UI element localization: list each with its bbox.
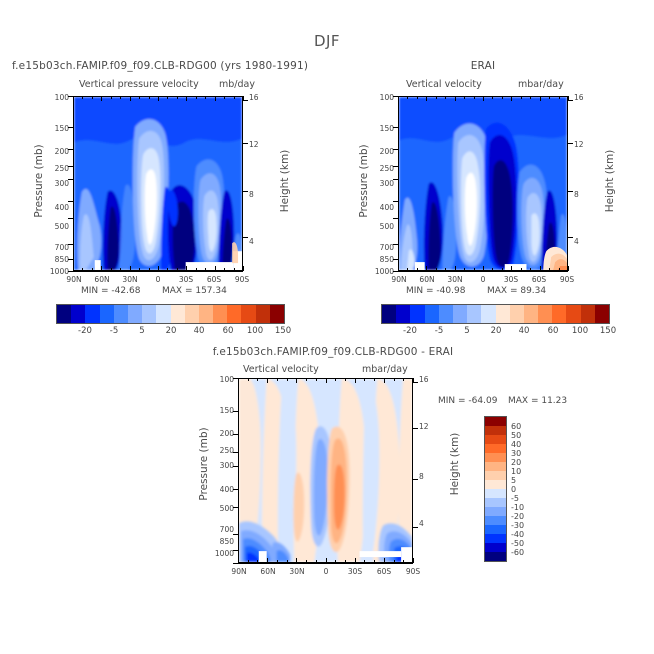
xtick-mark-top [158,96,159,101]
xtick-mark-top [248,378,249,381]
panel-obs-subtitle-right: mbar/day [518,79,564,90]
colorbar-swatch [485,507,506,516]
ytick-label: 100 [47,93,69,102]
colorbar-swatch [485,444,506,453]
xtick-mark-top [92,96,93,99]
colorbar-swatch [171,305,185,323]
y2tick-label: 12 [574,140,584,149]
panel-difference-min: MIN = -64.09 [438,396,497,406]
panel-difference-max: MAX = 11.23 [508,396,567,406]
colorbar-swatch [485,435,506,444]
colorbar-swatch [485,498,506,507]
colorbar-tick-label: -20 [71,326,99,336]
xtick-mark-top [205,96,206,99]
xtick-mark-top [73,96,74,101]
colorbar-swatch [485,462,506,471]
colorbar-swatch [270,305,284,323]
xtick-mark-top [474,96,475,99]
colorbar-tick-label: -10 [511,504,524,512]
xtick-mark-top [257,378,258,381]
ytick-mark [233,507,238,508]
colorbar-tick-label: -50 [511,540,524,548]
colorbar-swatch [100,305,114,323]
colorbar-tick-label: -20 [396,326,424,336]
xtick-label: 60S [374,567,394,576]
xtick-label: 0 [316,567,336,576]
ytick-label: 850 [47,255,69,264]
ytick-label: 400 [212,485,234,494]
y2tick-mark [243,237,248,238]
ytick-mark [233,550,238,551]
ytick-label: 200 [212,429,234,438]
colorbar-tick-label: 0 [511,486,516,494]
colorbar-swatch [485,471,506,480]
xtick-mark-top [167,96,168,99]
ytick-mark [233,489,238,490]
xtick-label: 30N [120,275,140,284]
colorbar-swatch [485,489,506,498]
colorbar-swatch [396,305,410,323]
colorbar-swatch [595,305,609,323]
ytick-label: 850 [372,255,394,264]
colorbar-tick-label: 100 [240,326,270,336]
ytick-mark [68,259,73,260]
ytick-mark [393,201,398,202]
xtick-label: 30S [345,567,365,576]
colorbar-swatch [71,305,85,323]
colorbar-tick-label: 20 [482,326,510,336]
ytick-label: 300 [47,179,69,188]
ytick-mark [393,149,398,150]
xtick-mark-top [82,96,83,99]
colorbar-swatch [481,305,495,323]
panel-obs-ylabel: Pressure (mb) [358,136,370,226]
ytick-label: 150 [47,124,69,133]
xtick-label: 30S [176,275,196,284]
ytick-mark [68,244,73,245]
colorbar-tick-label: -40 [511,531,524,539]
xtick-mark-top [502,96,503,99]
colorbar-swatch [485,516,506,525]
ytick-label: 100 [212,375,234,384]
ytick-label: 250 [372,164,394,173]
xtick-mark-top [436,96,437,99]
ytick-mark [393,259,398,260]
colorbar-tick-label: 30 [511,450,521,458]
panel-difference-colorbar[interactable] [484,416,507,562]
xtick-mark-top [296,378,297,383]
ytick-mark [233,466,238,467]
ytick-label: 500 [372,222,394,231]
colorbar-tick-label: 40 [185,326,213,336]
ytick-label: 200 [372,147,394,156]
xtick-label: 60N [92,275,112,284]
ytick-mark [393,218,398,219]
ytick-mark [68,166,73,167]
colorbar-swatch [85,305,99,323]
colorbar-swatch [199,305,213,323]
panel-model-min: MIN = -42.68 [81,286,140,296]
xtick-mark-top [464,96,465,99]
colorbar-swatch [485,480,506,489]
xtick-mark-top [374,378,375,381]
panel-obs-plot[interactable] [398,96,568,271]
panel-obs-max: MAX = 89.34 [487,286,546,296]
xtick-mark-top [130,96,131,101]
xtick-mark-bottom [568,266,569,271]
colorbar-swatch [453,305,467,323]
colorbar-swatch [142,305,156,323]
xtick-mark-top [215,96,216,101]
panel-model-colorbar[interactable] [56,304,285,324]
panel-model-max: MAX = 157.34 [162,286,227,296]
y2tick-mark [568,143,573,144]
colorbar-swatch [485,525,506,534]
xtick-mark-top [417,96,418,99]
xtick-label: 0 [473,275,493,284]
colorbar-tick-label: 10 [511,468,521,476]
ytick-label: 1000 [208,549,234,558]
figure-title: DJF [0,32,654,50]
colorbar-tick-label: 50 [511,432,521,440]
colorbar-swatch [425,305,439,323]
colorbar-swatch [496,305,510,323]
xtick-label: 60N [258,567,278,576]
panel-difference-subtitle-left: Vertical velocity [243,364,319,375]
ytick-label: 200 [47,147,69,156]
colorbar-swatch [185,305,199,323]
colorbar-tick-label: -5 [100,326,128,336]
xtick-label: 90S [557,275,577,284]
y2tick-label: 4 [574,237,579,246]
ytick-mark [68,127,73,128]
xtick-mark-top [521,96,522,99]
xtick-mark-top [287,378,288,381]
ytick-label: 500 [47,222,69,231]
xtick-label: 30N [445,275,465,284]
xtick-mark-top [403,378,404,381]
colorbar-tick-label: -30 [511,522,524,530]
xtick-mark-top [355,378,356,383]
ytick-mark [233,411,238,412]
xtick-mark-top [326,378,327,383]
ytick-label: 250 [47,164,69,173]
ytick-mark [68,218,73,219]
ytick-label: 300 [372,179,394,188]
colorbar-tick-label: 40 [511,441,521,449]
xtick-mark-top [426,96,427,101]
colorbar-tick-label: 40 [510,326,538,336]
panel-obs-y2label: Height (km) [604,136,616,226]
xtick-label: 90N [64,275,84,284]
colorbar-tick-label: -5 [511,495,519,503]
xtick-label: 60N [417,275,437,284]
y2tick-mark [413,527,418,528]
xtick-mark-top [149,96,150,99]
ytick-mark [233,534,238,535]
colorbar-swatch [382,305,396,323]
colorbar-swatch [227,305,241,323]
colorbar-swatch [485,543,506,552]
xtick-mark-top [335,378,336,381]
colorbar-tick-label: 20 [157,326,185,336]
xtick-mark-top [238,378,239,383]
xtick-label: 0 [148,275,168,284]
xtick-mark-top [101,96,102,101]
colorbar-swatch [566,305,580,323]
colorbar-swatch [485,552,506,561]
ytick-label: 150 [372,124,394,133]
colorbar-tick-label: 5 [128,326,156,336]
xtick-mark-top [267,378,268,383]
ytick-mark [68,201,73,202]
xtick-mark-top [306,378,307,381]
panel-model-subtitle-right: mb/day [219,79,255,90]
ytick-label: 100 [372,93,394,102]
xtick-mark-top [540,96,541,101]
colorbar-tick-label: 100 [565,326,595,336]
colorbar-swatch [552,305,566,323]
colorbar-swatch [213,305,227,323]
plot-bottom-axis [238,563,413,564]
xtick-mark-top [492,96,493,99]
panel-model-ylabel: Pressure (mb) [33,136,45,226]
colorbar-swatch [156,305,170,323]
xtick-mark-top [394,378,395,381]
ytick-label: 700 [372,243,394,252]
panel-difference-plot[interactable] [238,378,413,563]
xtick-mark-top [511,96,512,101]
ytick-label: 700 [47,243,69,252]
panel-model-title: f.e15b03ch.FAMIP.f09_f09.CLB-RDG00 (yrs … [12,60,308,72]
colorbar-swatch [538,305,552,323]
colorbar-swatch [485,426,506,435]
ytick-label: 400 [47,203,69,212]
colorbar-swatch [241,305,255,323]
xtick-mark-top [177,96,178,99]
y2tick-label: 12 [419,422,429,431]
xtick-mark-top [483,96,484,101]
colorbar-swatch [510,305,524,323]
xtick-mark-top [196,96,197,99]
ytick-label: 850 [212,537,234,546]
ytick-label: 700 [212,525,234,534]
colorbar-tick-label: 20 [511,459,521,467]
xtick-mark-bottom [243,266,244,271]
y2tick-label: 16 [574,93,584,102]
xtick-label: 30N [287,567,307,576]
xtick-label: 90N [389,275,409,284]
y2tick-mark [568,237,573,238]
colorbar-tick-label: 60 [214,326,242,336]
xtick-mark-top [345,378,346,381]
xtick-mark-top [398,96,399,101]
ytick-mark [68,149,73,150]
panel-model-subtitle-left: Vertical pressure velocity [79,79,199,90]
xtick-mark-top [186,96,187,101]
panel-obs-title: ERAI [398,60,568,72]
colorbar-swatch [581,305,595,323]
xtick-mark-top [139,96,140,99]
colorbar-tick-label: -60 [511,549,524,557]
xtick-mark-top [549,96,550,99]
panel-difference-subtitle-right: mbar/day [362,364,408,375]
panel-obs-min: MIN = -40.98 [406,286,465,296]
colorbar-swatch [485,534,506,543]
colorbar-tick-label: 150 [268,326,298,336]
y2tick-label: 8 [419,472,424,481]
colorbar-swatch [57,305,71,323]
colorbar-tick-label: 60 [539,326,567,336]
xtick-mark-top [364,378,365,381]
xtick-mark-top [224,96,225,99]
y2tick-mark [568,191,573,192]
xtick-mark-top [559,96,560,99]
colorbar-swatch [485,417,506,426]
colorbar-swatch [485,453,506,462]
y2tick-mark [413,479,418,480]
xtick-label: 90N [229,567,249,576]
xtick-label: 60S [204,275,224,284]
xtick-mark-bottom [413,558,414,563]
colorbar-swatch [114,305,128,323]
y2tick-label: 12 [249,140,259,149]
xtick-mark-top [445,96,446,99]
ytick-mark [393,127,398,128]
xtick-mark-top [111,96,112,99]
colorbar-tick-label: -20 [511,513,524,521]
xtick-mark-top [407,96,408,99]
colorbar-swatch [467,305,481,323]
plot-bottom-axis [73,271,243,272]
panel-difference-title: f.e15b03ch.FAMIP.f09_f09.CLB-RDG00 - ERA… [178,346,488,358]
colorbar-tick-label: 60 [511,423,521,431]
y2tick-mark [243,191,248,192]
y2tick-label: 16 [249,93,259,102]
panel-model-y2label: Height (km) [279,136,291,226]
ytick-mark [233,452,238,453]
xtick-mark-top [120,96,121,99]
colorbar-tick-label: 150 [593,326,623,336]
ytick-mark [393,166,398,167]
xtick-mark-top [277,378,278,381]
colorbar-swatch [256,305,270,323]
plot-bottom-axis [398,271,568,272]
xtick-mark-top [384,378,385,383]
xtick-mark-top [455,96,456,101]
panel-obs-subtitle-left: Vertical velocity [406,79,482,90]
xtick-label: 90S [232,275,252,284]
colorbar-tick-label: 5 [511,477,516,485]
ytick-mark [233,434,238,435]
xtick-mark-top [234,96,235,99]
colorbar-tick-label: 5 [453,326,481,336]
y2tick-label: 4 [419,519,424,528]
xtick-label: 90S [403,567,423,576]
xtick-label: 60S [529,275,549,284]
y2tick-label: 4 [249,237,254,246]
y2tick-mark [243,143,248,144]
ytick-label: 250 [212,446,234,455]
colorbar-swatch [128,305,142,323]
xtick-mark-top [413,378,414,383]
colorbar-swatch [439,305,453,323]
ytick-mark [68,179,73,180]
ytick-label: 150 [212,406,234,415]
panel-difference-ylabel: Pressure (mb) [198,419,210,509]
panel-difference-y2label: Height (km) [449,419,461,509]
ytick-label: 400 [372,203,394,212]
xtick-mark-top [243,96,244,101]
ytick-mark [393,179,398,180]
colorbar-swatch [410,305,424,323]
xtick-label: 30S [501,275,521,284]
y2tick-label: 8 [249,190,254,199]
panel-obs-colorbar[interactable] [381,304,610,324]
xtick-mark-top [530,96,531,99]
panel-model-plot[interactable] [73,96,243,271]
xtick-mark-top [568,96,569,101]
y2tick-label: 8 [574,190,579,199]
colorbar-swatch [524,305,538,323]
colorbar-tick-label: -5 [425,326,453,336]
ytick-mark [393,244,398,245]
xtick-mark-top [316,378,317,381]
y2tick-mark [413,428,418,429]
ytick-label: 300 [212,461,234,470]
ytick-label: 500 [212,504,234,513]
y2tick-label: 16 [419,375,429,384]
